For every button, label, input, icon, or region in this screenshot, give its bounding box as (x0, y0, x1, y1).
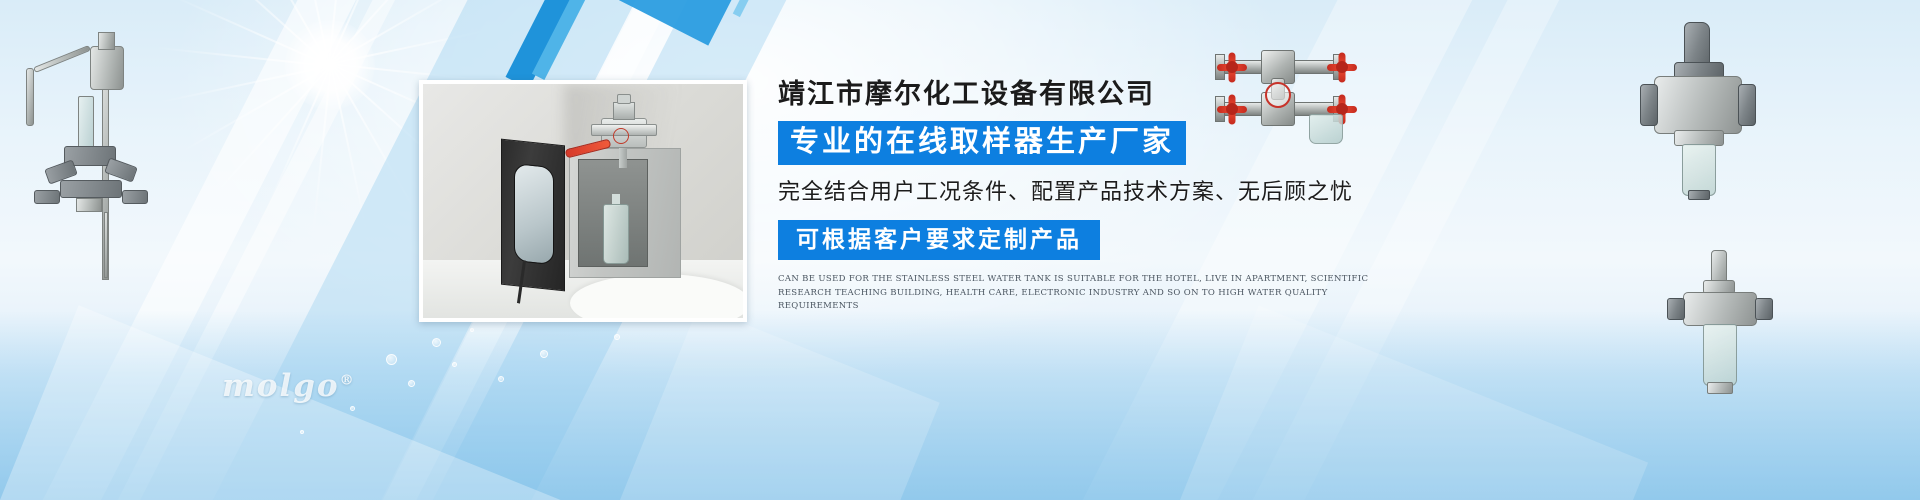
product-photo[interactable] (419, 80, 747, 322)
valve-tree-assembly (10, 22, 160, 282)
registered-mark-icon: ® (340, 373, 356, 389)
sub-headline: 完全结合用户工况条件、配置产品技术方案、无后顾之忧 (778, 177, 1398, 207)
product-banner: 靖江市摩尔化工设备有限公司 专业的在线取样器生产厂家 完全结合用户工况条件、配置… (0, 0, 1920, 500)
english-description: Can be used for the stainless steel wate… (778, 273, 1378, 314)
company-name: 靖江市摩尔化工设备有限公司 (778, 78, 1398, 112)
banner-text-block: 靖江市摩尔化工设备有限公司 专业的在线取样器生产厂家 完全结合用户工况条件、配置… (778, 78, 1398, 314)
product-photo-image (423, 84, 743, 318)
customization-badge: 可根据客户要求定制产品 (778, 220, 1100, 260)
headline-wrapper: 专业的在线取样器生产厂家 (778, 121, 1398, 165)
headline-badge: 专业的在线取样器生产厂家 (778, 121, 1186, 165)
brand-watermark: molgo® (222, 368, 356, 404)
tee-sampler-unit (1665, 250, 1795, 435)
watermark-text: molgo (222, 368, 340, 404)
custom-tag-wrapper: 可根据客户要求定制产品 (778, 220, 1398, 260)
flanged-sampler-unit (1630, 18, 1770, 233)
